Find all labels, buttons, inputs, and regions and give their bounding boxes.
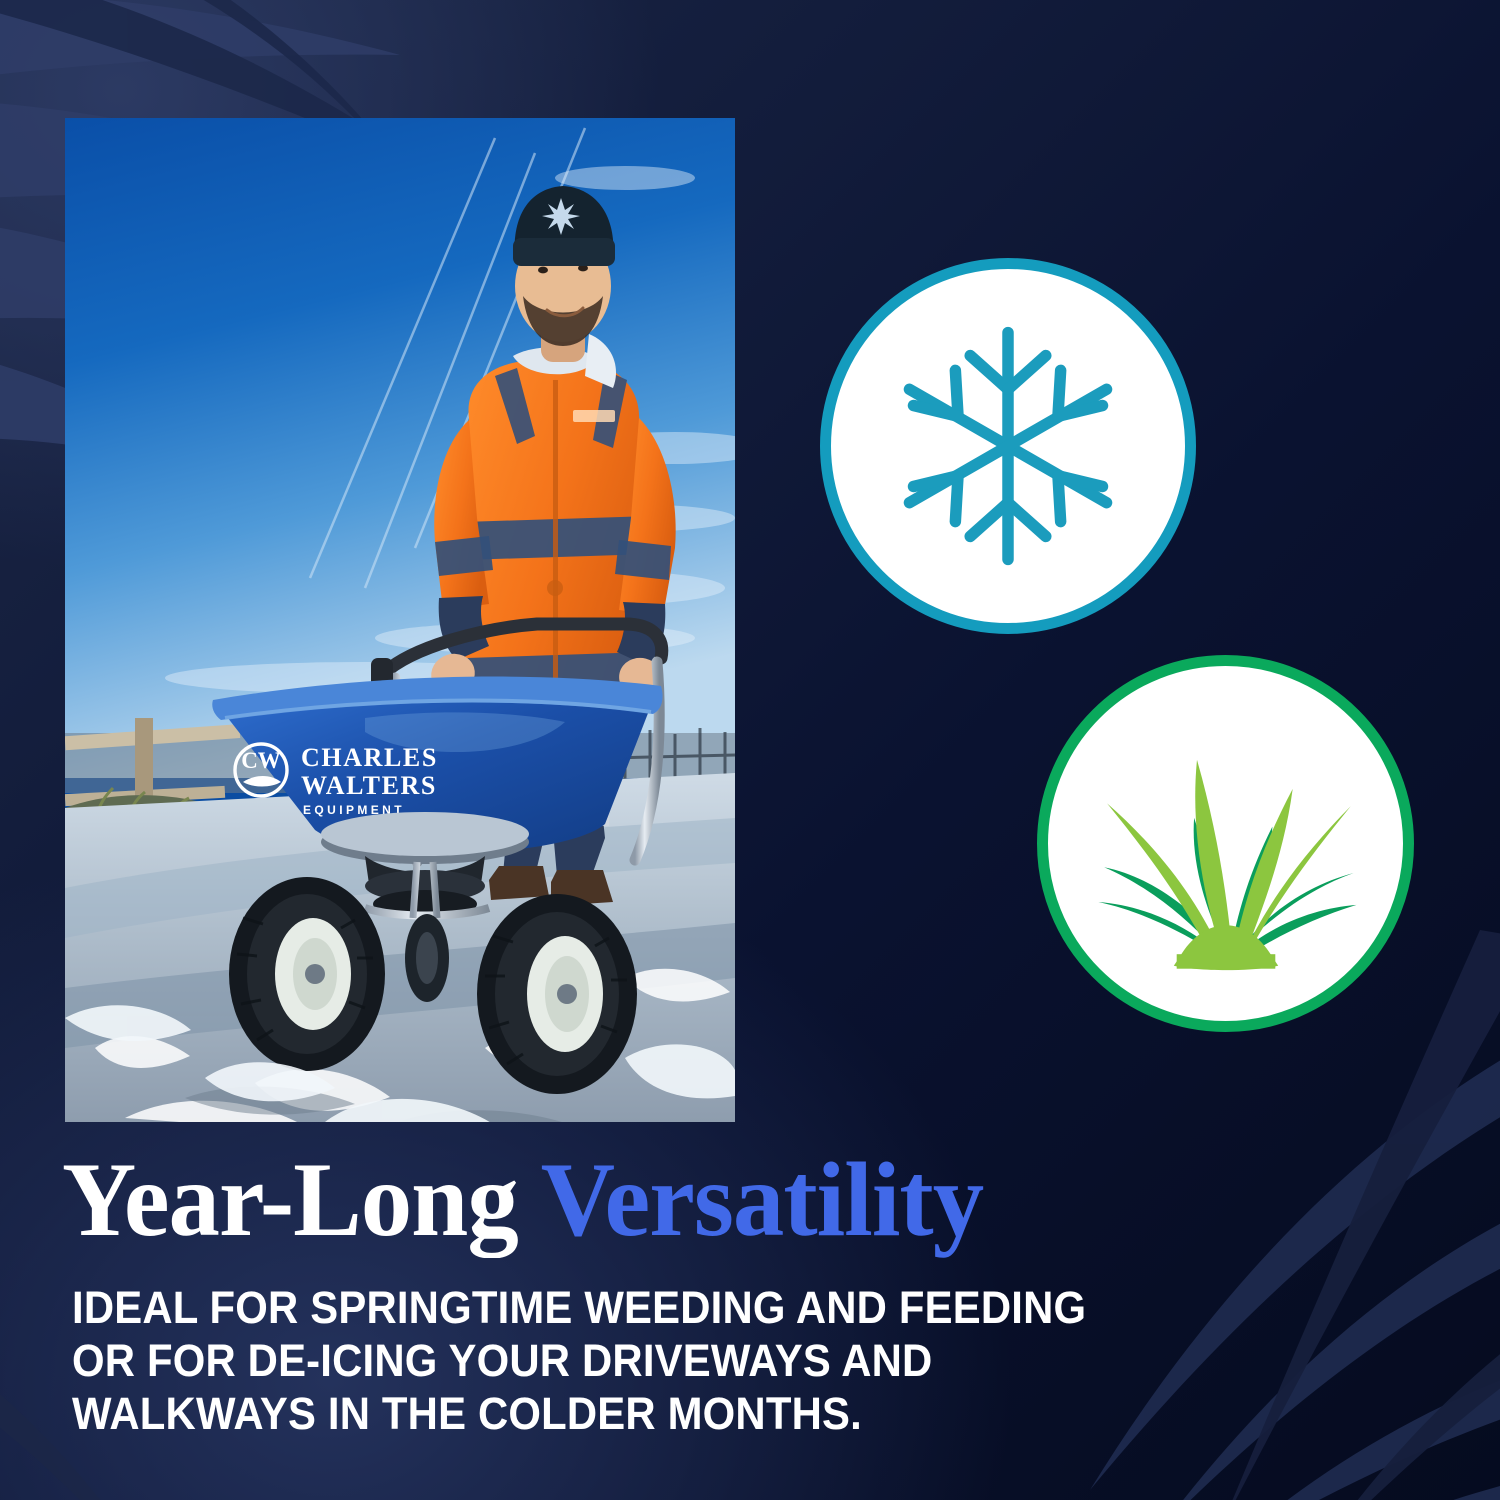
spreader-wheel-left [229,877,385,1071]
subtitle-line-2: OR FOR DE-ICING YOUR DRIVEWAYS AND [72,1334,1169,1387]
feature-badge-winter [820,258,1196,634]
banner-canvas: CW CHARLES WALTERS EQUIPMENT [0,0,1500,1500]
product-photo-illustration: CW CHARLES WALTERS EQUIPMENT [65,118,735,1122]
grass-icon [1081,699,1371,989]
product-photo: CW CHARLES WALTERS EQUIPMENT [65,118,735,1122]
feature-badge-lawn [1037,655,1414,1032]
svg-text:CW: CW [241,748,281,773]
svg-text:WALTERS: WALTERS [301,771,437,800]
snowflake-icon [873,311,1143,581]
page-title: Year-Long Versatility [62,1147,983,1253]
headline-part-primary: Year-Long [62,1141,518,1258]
subtitle-block: IDEAL FOR SPRINGTIME WEEDING AND FEEDING… [72,1281,1169,1440]
subtitle-line-1: IDEAL FOR SPRINGTIME WEEDING AND FEEDING [72,1281,1169,1334]
headline-part-accent: Versatility [541,1141,983,1258]
subtitle-line-3: WALKWAYS IN THE COLDER MONTHS. [72,1387,1169,1440]
spreader-wheel-right [477,894,637,1094]
svg-text:CHARLES: CHARLES [301,743,438,772]
